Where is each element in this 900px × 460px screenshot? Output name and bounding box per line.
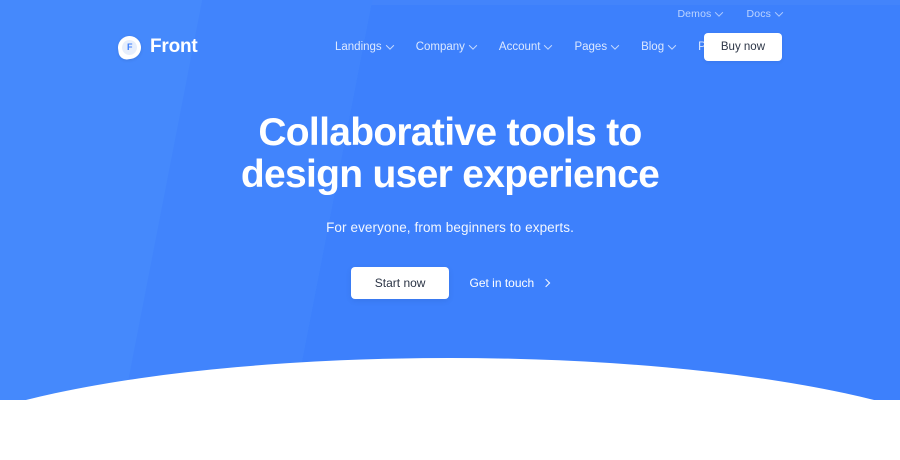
nav-item-label: Blog <box>641 41 664 53</box>
get-in-touch-label: Get in touch <box>469 276 534 290</box>
page-title: Collaborative tools to design user exper… <box>0 112 900 196</box>
chevron-down-icon <box>469 41 477 49</box>
nav-item-account[interactable]: Account <box>499 41 552 53</box>
chevron-down-icon <box>544 41 552 49</box>
nav-item-label: Pages <box>574 41 607 53</box>
droplet-logo-icon: F <box>117 34 143 60</box>
utility-bar: Demos Docs <box>677 8 782 20</box>
chevron-down-icon <box>611 41 619 49</box>
nav-item-pages[interactable]: Pages <box>574 41 618 53</box>
nav-item-label: Landings <box>335 41 382 53</box>
landing-page: Demos Docs F Front Landings Company <box>0 0 900 460</box>
buy-now-button[interactable]: Buy now <box>704 33 782 61</box>
nav-links: Landings Company Account Pages Blog Port… <box>335 41 751 53</box>
chevron-down-icon <box>715 8 723 16</box>
chevron-down-icon <box>385 41 393 49</box>
nav-item-blog[interactable]: Blog <box>641 41 675 53</box>
brand-name: Front <box>150 36 198 58</box>
get-in-touch-link[interactable]: Get in touch <box>469 276 549 290</box>
utility-item-label: Demos <box>677 8 711 20</box>
logo-letter: F <box>127 43 133 52</box>
arrow-right-icon <box>542 279 550 287</box>
start-now-button[interactable]: Start now <box>351 267 450 299</box>
brand-logo[interactable]: F Front <box>118 36 198 59</box>
below-fold-section <box>0 400 900 460</box>
utility-item-demos[interactable]: Demos <box>677 8 722 20</box>
chevron-down-icon <box>775 8 783 16</box>
nav-item-company[interactable]: Company <box>416 41 476 53</box>
chevron-down-icon <box>668 41 676 49</box>
hero-actions: Start now Get in touch <box>0 267 900 299</box>
logo-inner-disc: F <box>121 39 138 56</box>
page-subtitle: For everyone, from beginners to experts. <box>0 220 900 235</box>
main-navbar: F Front Landings Company Account Pages <box>0 28 900 66</box>
hero-content: Collaborative tools to design user exper… <box>0 112 900 299</box>
page-title-line-2: design user experience <box>0 154 900 196</box>
utility-item-docs[interactable]: Docs <box>746 8 782 20</box>
nav-item-label: Account <box>499 41 541 53</box>
nav-item-landings[interactable]: Landings <box>335 41 393 53</box>
nav-item-label: Company <box>416 41 465 53</box>
utility-item-label: Docs <box>746 8 771 20</box>
page-title-line-1: Collaborative tools to <box>0 112 900 154</box>
